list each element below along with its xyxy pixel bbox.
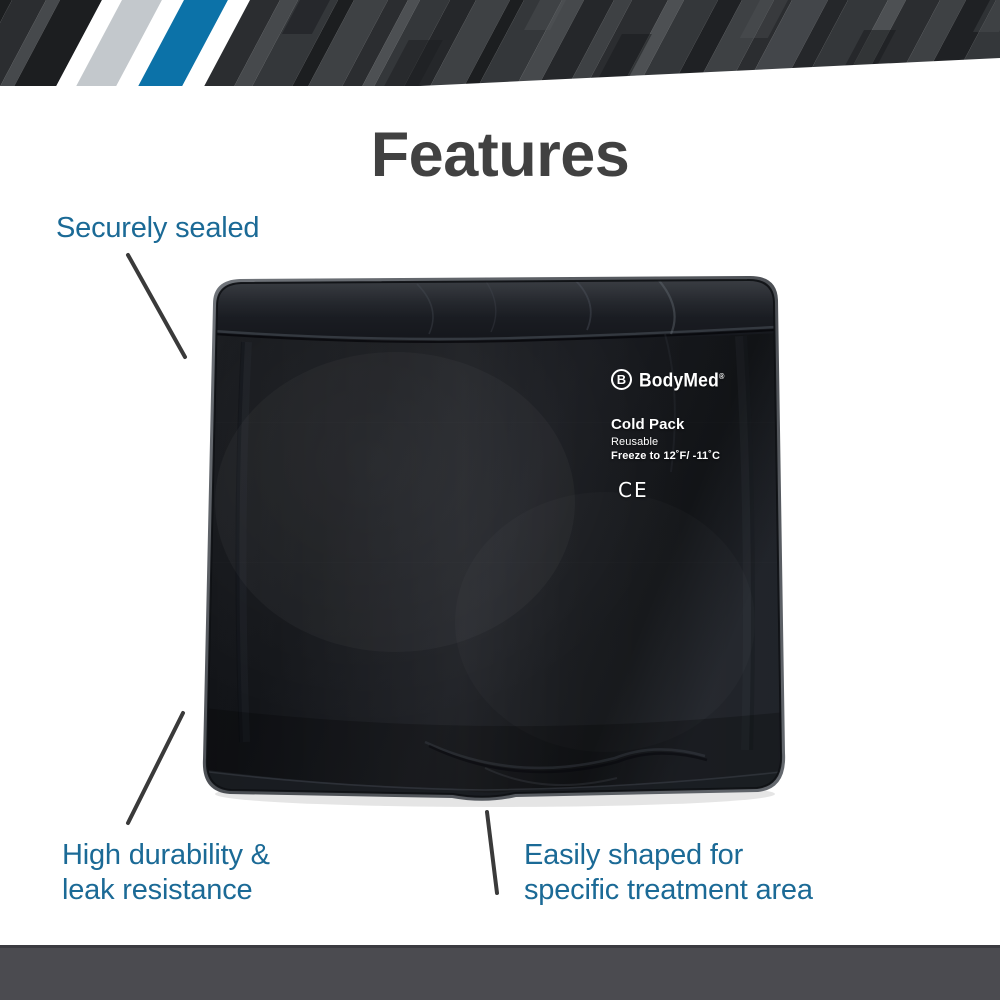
product-image: B BodyMed® Cold Pack Reusable Freeze to … [185, 272, 805, 812]
header-banner [0, 0, 1000, 86]
leader-line-securely-sealed [128, 255, 185, 357]
pack-body [185, 272, 805, 812]
label-reusable: Reusable [611, 435, 791, 449]
bodymed-b-icon: B [611, 369, 632, 390]
footer-bar [0, 945, 1000, 1000]
footer-top-edge [0, 945, 1000, 948]
brand-name-text: BodyMed [639, 371, 719, 392]
callout-securely-sealed: Securely sealed [56, 211, 259, 246]
callout-easily-shaped: Easily shaped for specific treatment are… [524, 838, 813, 908]
brand-logo: B BodyMed® [611, 368, 791, 390]
registered-trademark-icon: ® [719, 372, 725, 381]
leader-line-easily-shaped [487, 812, 497, 893]
callout-high-durability: High durability & leak resistance [62, 838, 270, 908]
product-label: B BodyMed® Cold Pack Reusable Freeze to … [611, 368, 791, 501]
header-stripe-graphic [0, 0, 1000, 86]
infographic-page: Features [0, 0, 1000, 1000]
label-freeze-temp: Freeze to 12˚F/ -11˚C [611, 449, 791, 463]
page-title: Features [0, 116, 1000, 194]
brand-name: BodyMed® [639, 367, 725, 390]
label-product-title: Cold Pack [611, 416, 791, 433]
leader-line-high-durability [128, 713, 183, 823]
cold-pack-illustration [185, 272, 805, 812]
ce-mark-icon: CE [618, 479, 791, 501]
